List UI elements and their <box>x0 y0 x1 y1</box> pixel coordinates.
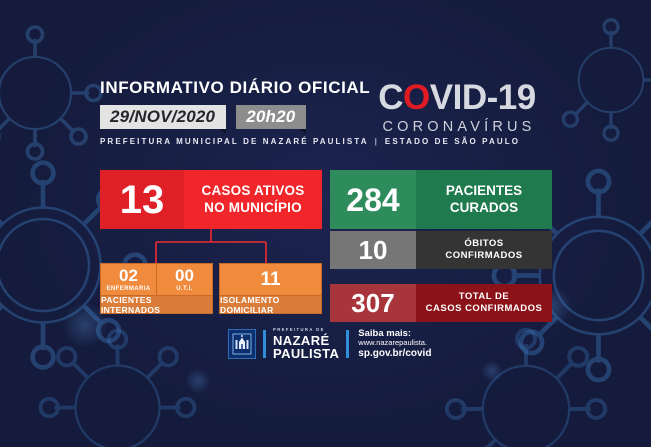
virus-particle-icon <box>541 10 651 150</box>
coronavirus-subtitle: CORONAVÍRUS <box>359 119 555 135</box>
breakdown-hospitalized: 02 ENFERMARIA 00 U.T.I. PACIENTES INTERN… <box>100 263 213 314</box>
footer-divider <box>346 330 349 358</box>
covid-daily-report-poster: INFORMATIVO DIÁRIO OFICIAL 29/NOV/2020 2… <box>0 0 651 447</box>
enfermaria-key: ENFERMARIA <box>107 286 151 292</box>
virus-particle-icon <box>30 320 205 447</box>
hospitalized-cells: 02 ENFERMARIA 00 U.T.I. <box>100 263 213 296</box>
city-logo-line2: PAULISTA <box>273 347 339 360</box>
city-logo: PREFEITURA DE NAZARÉ PAULISTA <box>273 328 339 359</box>
city-logo-name: NAZARÉ PAULISTA <box>273 334 339 360</box>
covid-title: COVID-19 <box>359 80 555 115</box>
breakdown-cell-enfermaria: 02 ENFERMARIA <box>100 263 157 296</box>
deaths-label-line2: CONFIRMADOS <box>445 250 522 262</box>
total-value: 307 <box>330 284 416 322</box>
city-coat-of-arms-icon <box>228 329 256 359</box>
covid-logo: COVID-19 CORONAVÍRUS <box>359 80 555 135</box>
deaths-label: ÓBITOS CONFIRMADOS <box>416 231 552 269</box>
municipality-line: PREFEITURA MUNICIPAL DE NAZARÉ PAULISTA|… <box>100 137 520 146</box>
stat-card-total-confirmed: 307 TOTAL DE CASOS CONFIRMADOS <box>330 284 552 322</box>
stat-card-deaths: 10 ÓBITOS CONFIRMADOS <box>330 231 552 269</box>
enfermaria-value: 02 <box>119 267 138 284</box>
total-label: TOTAL DE CASOS CONFIRMADOS <box>416 284 552 322</box>
breakdown-cell-uti: 00 U.T.I. <box>157 263 213 296</box>
covid-title-o-red: O <box>403 78 430 117</box>
home-isolation-caption: ISOLAMENTO DOMICILIAR <box>219 296 322 314</box>
breakdown-cell-isolamento: 11 <box>219 263 322 296</box>
website-url-line2[interactable]: sp.gov.br/covid <box>358 348 431 360</box>
website-url-line1[interactable]: www.nazarepaulista. <box>358 339 431 348</box>
stat-card-active-cases: 13 CASOS ATIVOS NO MUNICÍPIO <box>100 170 322 229</box>
glow-dot <box>481 360 503 382</box>
covid-title-part2: VID-19 <box>430 78 536 117</box>
time-badge: 20h20 <box>236 105 306 129</box>
municipality-name: PREFEITURA MUNICIPAL DE NAZARÉ PAULISTA <box>100 137 369 146</box>
home-isolation-cells: 11 <box>219 263 322 296</box>
cured-value: 284 <box>330 170 416 229</box>
active-cases-label-line1: CASOS ATIVOS <box>202 183 305 199</box>
total-label-line2: CASOS CONFIRMADOS <box>426 303 543 315</box>
hospitalized-caption: PACIENTES INTERNADOS <box>100 296 213 314</box>
isolamento-value: 11 <box>260 270 280 289</box>
uti-value: 00 <box>175 267 194 284</box>
separator: | <box>375 137 379 146</box>
poster-header: INFORMATIVO DIÁRIO OFICIAL 29/NOV/2020 2… <box>100 78 555 160</box>
state-name: ESTADO DE SÃO PAULO <box>385 137 520 146</box>
breakdown-connector <box>100 229 322 263</box>
breakdown-home-isolation: 11 ISOLAMENTO DOMICILIAR <box>219 263 322 314</box>
cured-label-line1: PACIENTES <box>446 183 522 199</box>
poster-footer: PREFEITURA DE NAZARÉ PAULISTA Saiba mais… <box>228 328 431 360</box>
cured-label: PACIENTES CURADOS <box>416 170 552 229</box>
learn-more-block: Saiba mais: www.nazarepaulista. sp.gov.b… <box>358 328 431 360</box>
uti-key: U.T.I. <box>176 286 192 292</box>
stat-card-cured: 284 PACIENTES CURADOS <box>330 170 552 229</box>
deaths-label-line1: ÓBITOS <box>464 238 503 250</box>
virus-background-decoration <box>0 0 651 447</box>
virus-particle-icon <box>436 319 616 447</box>
deaths-value: 10 <box>330 231 416 269</box>
active-cases-label: CASOS ATIVOS NO MUNICÍPIO <box>184 170 322 229</box>
date-badge: 29/NOV/2020 <box>100 105 226 129</box>
cured-label-line2: CURADOS <box>450 200 518 216</box>
total-label-line1: TOTAL DE <box>459 291 509 303</box>
active-cases-value: 13 <box>100 170 184 229</box>
covid-title-part1: C <box>378 78 403 117</box>
virus-particle-icon <box>0 18 110 168</box>
footer-divider <box>263 330 266 358</box>
glow-dot <box>185 368 211 394</box>
coat-of-arms-glyph <box>232 333 252 355</box>
active-cases-label-line2: NO MUNICÍPIO <box>204 200 302 216</box>
